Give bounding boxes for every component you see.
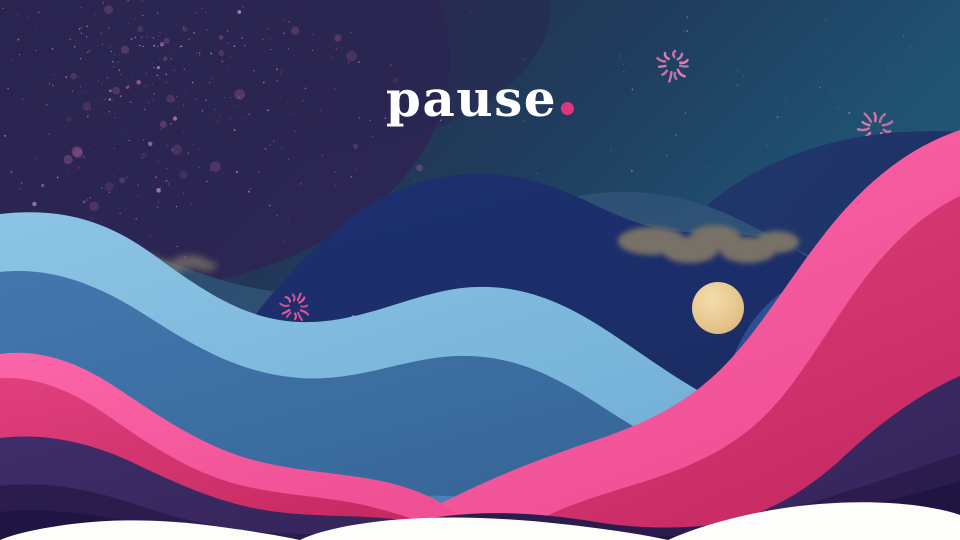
moon	[692, 282, 744, 334]
wallpaper-canvas: pause	[0, 0, 960, 540]
scene-illustration	[0, 0, 960, 540]
